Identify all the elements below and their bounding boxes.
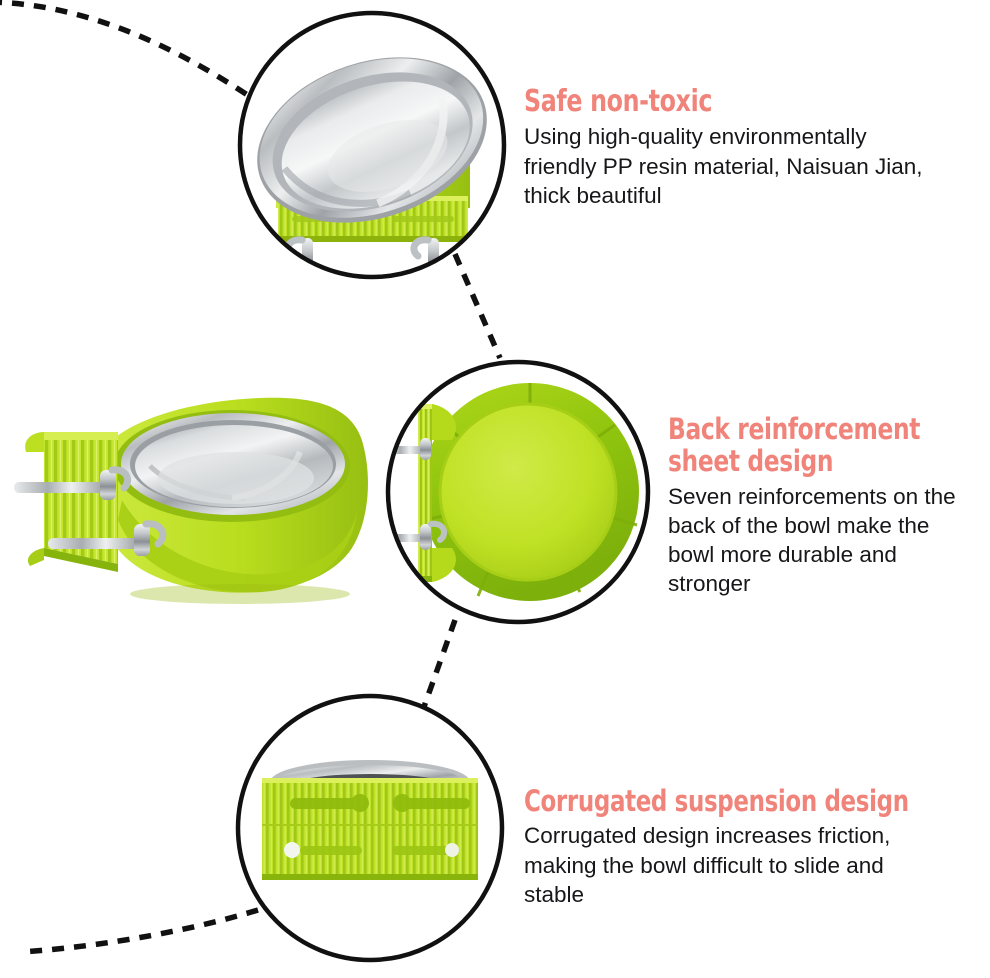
feature-block-corrugated-suspension: Corrugated suspension design Corrugated … <box>524 786 990 909</box>
connector-top-left <box>0 2 252 98</box>
connector-middle-to-bottom <box>420 620 455 718</box>
infographic-canvas: Safe non-toxic Using high-quality enviro… <box>0 0 990 978</box>
feature-block-safe-non-toxic: Safe non-toxic Using high-quality enviro… <box>524 86 990 210</box>
callout-bottom <box>236 694 506 964</box>
connector-top-to-middle <box>455 254 500 358</box>
feature-body-back-reinforcement: Seven reinforcements on the back of the … <box>668 482 990 599</box>
callout-middle <box>386 360 652 626</box>
feature-body-safe-non-toxic: Using high-quality environmentally frien… <box>524 122 990 210</box>
feature-body-corrugated-suspension: Corrugated design increases friction, ma… <box>524 821 990 909</box>
feature-title-back-reinforcement: Back reinforcement sheet design <box>668 414 951 478</box>
callout-top <box>236 10 509 282</box>
hero-product <box>14 398 368 604</box>
feature-title-safe-non-toxic: Safe non-toxic <box>524 86 938 118</box>
connector-bottom-left <box>22 910 258 952</box>
hero-mount-plate <box>25 432 118 572</box>
feature-block-back-reinforcement: Back reinforcement sheet design Seven re… <box>668 414 990 599</box>
feature-title-corrugated-suspension: Corrugated suspension design <box>524 786 936 817</box>
